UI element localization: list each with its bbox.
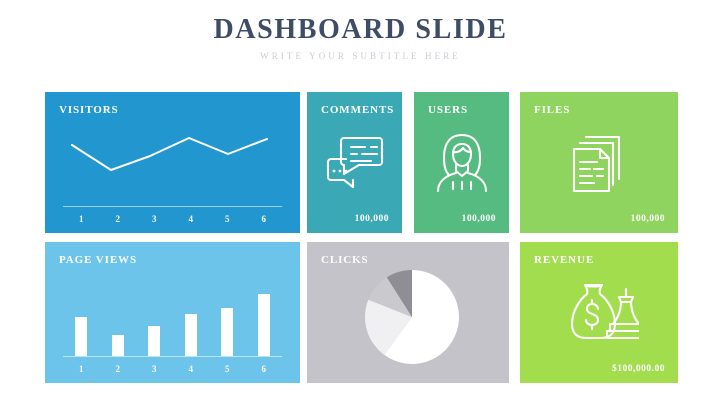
- axis-tick: 5: [209, 364, 246, 374]
- card-users-value: 100,000: [462, 214, 496, 224]
- bar-slot: [136, 281, 173, 356]
- axis-tick: 4: [173, 214, 210, 224]
- card-page-views[interactable]: PAGE VIEWS 1 2 3 4 5 6: [45, 242, 300, 383]
- documents-icon: [520, 92, 678, 233]
- card-files[interactable]: FILES 100,: [520, 92, 678, 233]
- slide-header: DASHBOARD SLIDE WRITE YOUR SUBTITLE HERE: [0, 14, 721, 62]
- bar-slot: [63, 281, 100, 356]
- page-subtitle: WRITE YOUR SUBTITLE HERE: [0, 50, 721, 62]
- card-visitors[interactable]: VISITORS 1 2 3 4 5 6: [45, 92, 300, 233]
- page-views-axis-labels: 1 2 3 4 5 6: [63, 364, 282, 374]
- visitors-axis-labels: 1 2 3 4 5 6: [63, 214, 282, 224]
- bar: [148, 326, 160, 356]
- page-views-bar-chart: 1 2 3 4 5 6: [45, 242, 300, 383]
- line-chart-icon: [45, 92, 300, 233]
- bar-slot: [173, 281, 210, 356]
- card-comments-value: 100,000: [355, 214, 389, 224]
- axis-tick: 3: [136, 364, 173, 374]
- visitors-line-chart: 1 2 3 4 5 6: [45, 92, 300, 233]
- bar-slot: [209, 281, 246, 356]
- clicks-pie-chart: [307, 242, 509, 383]
- axis-tick: 3: [136, 214, 173, 224]
- axis-tick: 1: [63, 364, 100, 374]
- axis-tick: 2: [100, 214, 137, 224]
- bar-slot: [246, 281, 283, 356]
- axis-tick: 6: [246, 214, 283, 224]
- bar: [112, 335, 124, 355]
- card-revenue[interactable]: REVENUE $1: [520, 242, 678, 383]
- page-title: DASHBOARD SLIDE: [0, 14, 721, 46]
- bar: [75, 317, 87, 356]
- pie-chart-icon: [364, 269, 460, 365]
- card-revenue-value: $100,000.00: [612, 364, 665, 374]
- bar: [221, 308, 233, 356]
- axis-tick: 5: [209, 214, 246, 224]
- bar: [258, 294, 270, 356]
- bar: [185, 314, 197, 356]
- person-icon: [414, 92, 509, 233]
- card-comments[interactable]: COMMENTS: [307, 92, 402, 233]
- bar-chart-icon: [63, 281, 282, 356]
- axis-tick: 1: [63, 214, 100, 224]
- axis-tick: 6: [246, 364, 283, 374]
- axis-tick: 2: [100, 364, 137, 374]
- page-views-axis-line: [63, 356, 282, 358]
- card-files-value: 100,000: [631, 214, 665, 224]
- card-users[interactable]: USERS 100,: [414, 92, 509, 233]
- card-clicks[interactable]: CLICKS: [307, 242, 509, 383]
- dashboard-grid: VISITORS 1 2 3 4 5 6 COMMENTS: [45, 92, 678, 383]
- axis-tick: 4: [173, 364, 210, 374]
- dashboard-slide: DASHBOARD SLIDE WRITE YOUR SUBTITLE HERE…: [0, 0, 721, 405]
- money-bag-icon: [520, 242, 678, 383]
- visitors-axis-line: [63, 206, 282, 208]
- bar-slot: [100, 281, 137, 356]
- speech-bubbles-icon: [307, 92, 402, 233]
